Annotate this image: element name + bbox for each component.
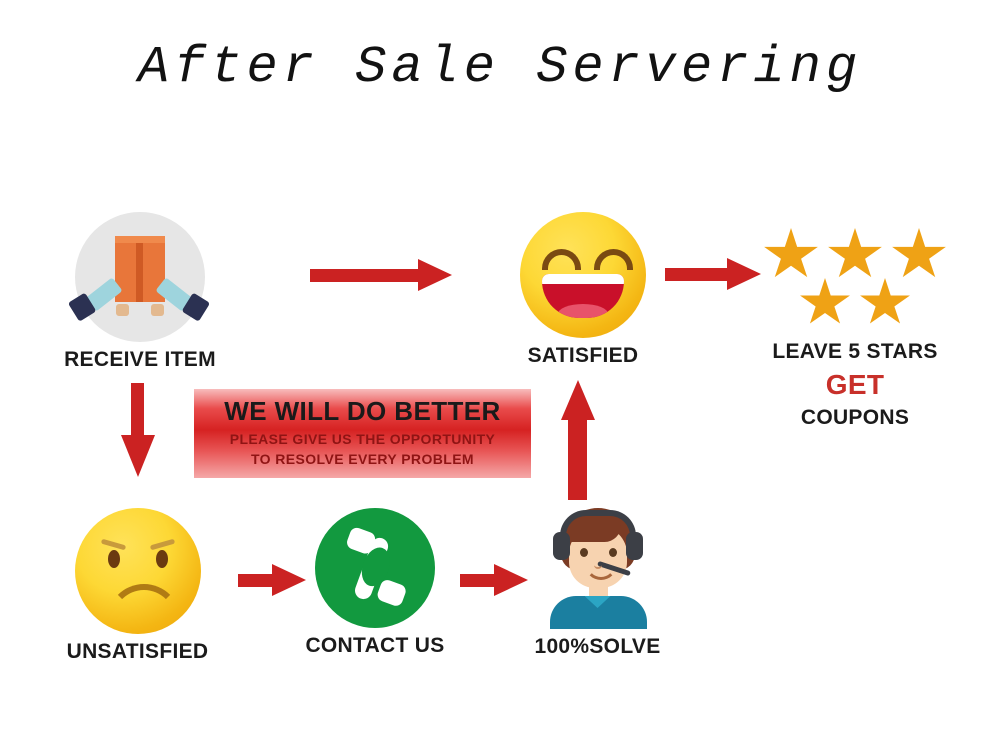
stars-caption: LEAVE 5 STARS GET COUPONS	[740, 340, 970, 430]
sad-eye-left-shape	[108, 550, 120, 568]
sad-mouth-shape	[107, 584, 181, 622]
star-icon	[799, 278, 851, 328]
happy-face-icon	[520, 212, 646, 338]
node-receive-item: RECEIVE ITEM	[45, 212, 235, 372]
node-label-contact-us: CONTACT US	[295, 634, 455, 658]
node-satisfied: SATISFIED	[508, 212, 658, 368]
we-will-do-better-banner: WE WILL DO BETTER PLEASE GIVE US THE OPP…	[194, 389, 531, 478]
arrow-head	[121, 435, 155, 477]
stars-line-coupons: COUPONS	[740, 406, 970, 430]
star-icon	[891, 228, 947, 282]
after-sale-service-infographic: After Sale Servering RECEIVE ITEM SATISF…	[0, 0, 1000, 750]
package-in-hands-icon	[75, 212, 205, 342]
sad-face-icon	[75, 508, 201, 634]
agent-eye-right-shape	[609, 548, 617, 557]
finger-right-shape	[151, 304, 164, 316]
phone-handset-shape	[339, 524, 412, 612]
stars-line-get: GET	[740, 369, 970, 401]
banner-subtitle-line-1: PLEASE GIVE US THE OPPORTUNITY	[194, 431, 531, 447]
arrow-shaft	[568, 414, 587, 500]
finger-left-shape	[116, 304, 129, 316]
node-label-satisfied: SATISFIED	[508, 344, 658, 368]
banner-subtitle-line-2: TO RESOLVE EVERY PROBLEM	[194, 451, 531, 467]
sad-brow-left-shape	[100, 539, 125, 551]
star-icon	[763, 228, 819, 282]
arrow-shaft	[310, 269, 420, 282]
sad-brow-right-shape	[149, 539, 174, 551]
phone-icon	[315, 508, 435, 628]
sad-eye-right-shape	[156, 550, 168, 568]
arrow-shaft	[238, 574, 274, 587]
arrow-shaft	[131, 383, 144, 441]
node-solve: 100%SOLVE	[510, 504, 685, 659]
star-row-top	[740, 228, 970, 282]
node-unsatisfied: UNSATISFIED	[60, 508, 215, 664]
star-row-bottom	[740, 278, 970, 328]
stars-line-leave-5-stars: LEAVE 5 STARS	[740, 340, 970, 364]
headset-band-shape	[560, 510, 636, 536]
arrow-shaft	[665, 268, 729, 281]
happy-eye-right-shape	[594, 249, 633, 270]
arrow-shaft	[460, 574, 496, 587]
arrow-head	[418, 259, 452, 291]
node-label-unsatisfied: UNSATISFIED	[60, 640, 215, 664]
page-title: After Sale Servering	[0, 38, 1000, 97]
banner-title: WE WILL DO BETTER	[194, 396, 531, 427]
agent-eye-left-shape	[580, 548, 588, 557]
happy-mouth-shape	[542, 274, 624, 318]
node-label-solve: 100%SOLVE	[510, 635, 685, 659]
headset-earcup-right-shape	[626, 532, 643, 560]
happy-eye-left-shape	[542, 249, 581, 270]
support-agent-icon	[533, 504, 663, 629]
headset-earcup-left-shape	[553, 532, 570, 560]
node-label-receive-item: RECEIVE ITEM	[45, 348, 235, 372]
node-leave-5-stars: LEAVE 5 STARS GET COUPONS	[740, 228, 970, 430]
star-icon	[827, 228, 883, 282]
node-contact-us: CONTACT US	[295, 508, 455, 658]
star-icon	[859, 278, 911, 328]
